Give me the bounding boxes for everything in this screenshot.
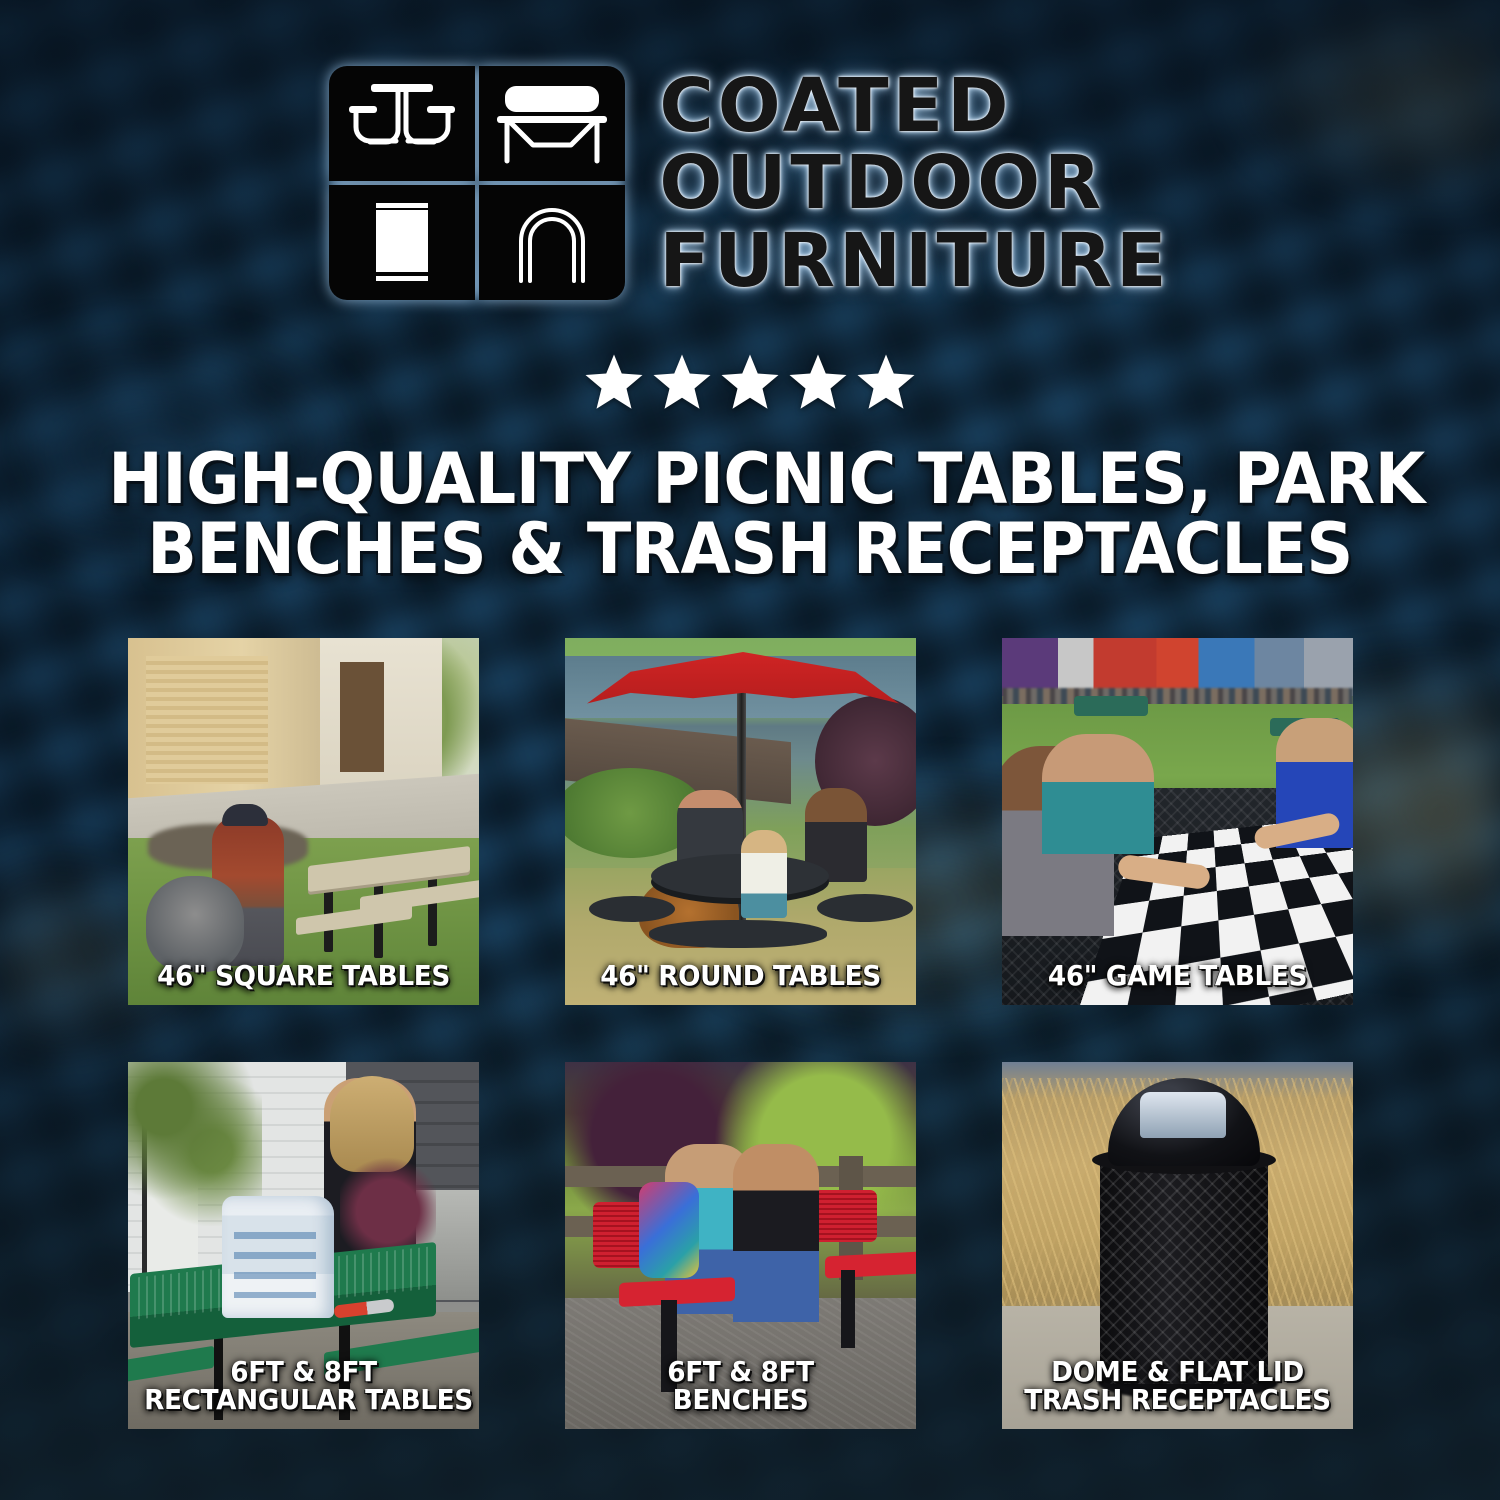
tile-caption-line-1: 6FT & 8FT: [581, 1358, 900, 1387]
tile-caption: 46" GAME TABLES: [1018, 962, 1337, 991]
brand-logo-mark: [329, 66, 625, 300]
flat-lid-trash-receptacle-icon: [329, 185, 475, 300]
star-icon: [855, 352, 917, 412]
tile-caption-line-1: 46" SQUARE TABLES: [144, 962, 463, 991]
star-icon: [583, 352, 645, 412]
bench-icon: [479, 66, 625, 181]
tile-caption-line-1: DOME & FLAT LID: [1018, 1358, 1337, 1387]
tile-caption-line-2: RECTANGULAR TABLES: [144, 1386, 463, 1415]
product-tile-round-tables[interactable]: 46" ROUND TABLES: [565, 638, 916, 1005]
product-tile-square-tables[interactable]: 46" SQUARE TABLES: [128, 638, 479, 1005]
tile-caption: DOME & FLAT LID TRASH RECEPTACLES: [1018, 1358, 1337, 1415]
tile-caption: 46" SQUARE TABLES: [144, 962, 463, 991]
page-title: HIGH-QUALITY PICNIC TABLES, PARK BENCHES…: [108, 444, 1391, 584]
headline-line-1: HIGH-QUALITY PICNIC TABLES, PARK: [108, 444, 1391, 514]
tile-caption: 6FT & 8FT RECTANGULAR TABLES: [144, 1358, 463, 1415]
tile-caption-line-2: BENCHES: [581, 1386, 900, 1415]
tile-caption-line-1: 46" ROUND TABLES: [581, 962, 900, 991]
product-tile-benches[interactable]: 6FT & 8FT BENCHES: [565, 1062, 916, 1429]
star-icon: [719, 352, 781, 412]
product-tile-game-tables[interactable]: 46" GAME TABLES: [1002, 638, 1353, 1005]
brand-word-furniture: FURNITURE: [659, 224, 1170, 299]
photo-round-table-umbrella-family: [565, 638, 916, 1005]
tile-caption-line-2: TRASH RECEPTACLES: [1018, 1386, 1337, 1415]
dome-lid-trash-receptacle-icon: [479, 185, 625, 300]
tile-caption-line-1: 6FT & 8FT: [144, 1358, 463, 1387]
brand-word-outdoor: OUTDOOR: [659, 146, 1170, 221]
poster-root: COATED OUTDOOR FURNITURE HIGH-QUALITY PI…: [0, 0, 1500, 1500]
product-tile-rectangular-tables[interactable]: 6FT & 8FT RECTANGULAR TABLES: [128, 1062, 479, 1429]
product-tile-grid: 46" SQUARE TABLES: [128, 638, 1373, 1429]
poster-content: COATED OUTDOOR FURNITURE HIGH-QUALITY PI…: [0, 0, 1500, 1500]
product-tile-trash-receptacles[interactable]: DOME & FLAT LID TRASH RECEPTACLES: [1002, 1062, 1353, 1429]
star-rating: [0, 352, 1500, 412]
headline-line-2: BENCHES & TRASH RECEPTACLES: [108, 514, 1391, 584]
brand-word-coated: COATED: [659, 69, 1170, 144]
tile-caption-line-1: 46" GAME TABLES: [1018, 962, 1337, 991]
brand-wordmark: COATED OUTDOOR FURNITURE: [659, 67, 1170, 299]
tile-caption: 46" ROUND TABLES: [581, 962, 900, 991]
tile-caption: 6FT & 8FT BENCHES: [581, 1358, 900, 1415]
photo-game-table-checkers: [1002, 638, 1353, 1005]
star-icon: [651, 352, 713, 412]
square-picnic-table-icon: [329, 66, 475, 181]
photo-square-table-lawn-dog: [128, 638, 479, 1005]
brand-logo-lockup: COATED OUTDOOR FURNITURE: [0, 66, 1500, 300]
star-icon: [787, 352, 849, 412]
